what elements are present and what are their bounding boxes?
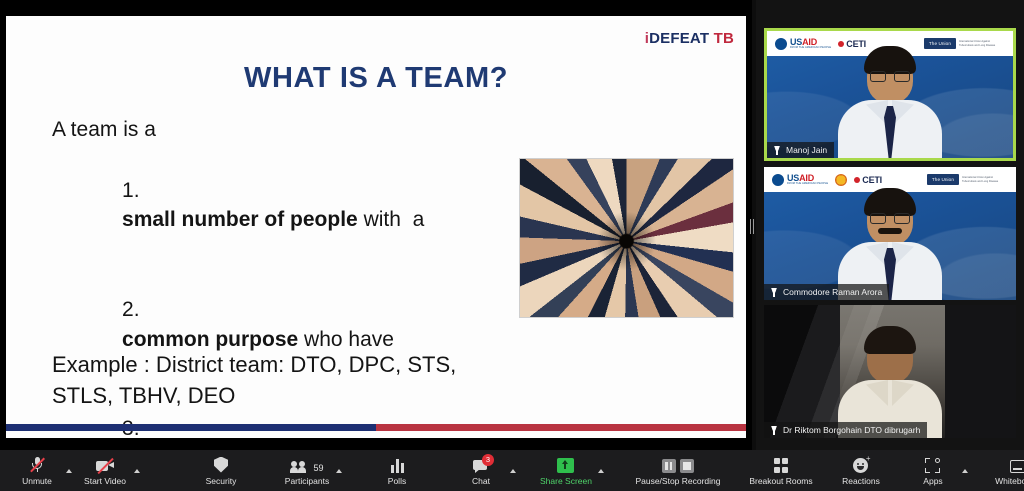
list-item-rest: who have (298, 328, 394, 351)
the-union-logo: The Union International Union Against Tu… (927, 174, 1008, 185)
reactions-label: Reactions (842, 476, 880, 486)
smiley-icon: + (853, 456, 868, 473)
participant-name-bar: Commodore Raman Arora (764, 284, 889, 300)
audio-options-chevron-up-icon[interactable] (66, 469, 72, 473)
participants-chevron-up-icon[interactable] (336, 469, 342, 473)
union-wordmark: The Union (924, 38, 956, 49)
idefeat-tb-logo: iDEFEAT TB (645, 30, 734, 47)
union-wordmark: The Union (927, 174, 959, 185)
union-tagline: International Union Against Tuberculosis… (959, 40, 1005, 46)
pin-icon (773, 146, 781, 155)
zoom-meeting-window: iDEFEAT TB WHAT IS A TEAM? A team is a 1… (0, 0, 1024, 491)
union-tagline: International Union Against Tuberculosis… (962, 176, 1008, 182)
reactions-button[interactable]: + Reactions (830, 450, 892, 491)
apps-icon (925, 456, 940, 473)
pin-icon (770, 426, 778, 435)
security-button[interactable]: Security (194, 450, 248, 491)
video-tile-dr-riktom-borgohain[interactable]: Dr Riktom Borgohain DTO dibrugarh (764, 305, 1016, 438)
breakout-label: Breakout Rooms (749, 476, 812, 486)
video-tile-manoj-jain[interactable]: USAID FROM THE AMERICAN PEOPLE CETI The … (764, 28, 1016, 161)
participant-name-bar: Dr Riktom Borgohain DTO dibrugarh (764, 422, 927, 438)
slide-title: WHAT IS A TEAM? (6, 62, 746, 95)
avatar-head (867, 193, 913, 245)
slide-lead-text: A team is a (52, 116, 482, 144)
bar-chart-icon (391, 456, 404, 473)
chat-label: Chat (472, 476, 490, 486)
usaid-tagline: FROM THE AMERICAN PEOPLE (790, 47, 831, 50)
avatar-hair (864, 46, 916, 74)
footer-bar-right (376, 424, 746, 431)
shield-icon (214, 456, 228, 473)
toolbar-center-group: Security 59 Participants Polls (194, 450, 1024, 491)
participant-name: Commodore Raman Arora (783, 287, 882, 297)
usaid-tagline: FROM THE AMERICAN PEOPLE (787, 183, 828, 186)
recording-label: Pause/Stop Recording (635, 476, 720, 486)
apps-chevron-up-icon[interactable] (962, 469, 968, 473)
ceti-dot-icon (838, 41, 844, 47)
the-union-logo: The Union International Union Against Tu… (924, 38, 1005, 49)
unmute-label: Unmute (22, 476, 52, 486)
ceti-wordmark: CETI (846, 39, 866, 49)
shared-screen-area[interactable]: iDEFEAT TB WHAT IS A TEAM? A team is a 1… (0, 0, 752, 450)
usaid-seal-icon (775, 38, 787, 50)
participant-name: Manoj Jain (786, 145, 827, 155)
camera-off-icon (96, 456, 114, 473)
microphone-muted-icon (31, 456, 44, 473)
avatar-body (838, 100, 942, 158)
list-item-rest: with a (358, 208, 425, 231)
avatar-moustache (878, 228, 902, 234)
pin-icon (770, 288, 778, 297)
video-options-chevron-up-icon[interactable] (134, 469, 140, 473)
ceti-logo: CETI (854, 175, 882, 185)
security-label: Security (206, 476, 237, 486)
share-screen-icon (557, 456, 574, 473)
share-screen-label: Share Screen (540, 476, 592, 486)
list-item: 1. small number of people with a (52, 146, 482, 265)
unmute-button[interactable]: Unmute (10, 450, 64, 491)
usaid-logo: USAID FROM THE AMERICAN PEOPLE (772, 174, 828, 186)
meeting-toolbar: Unmute Start Video Security 59 (0, 450, 1024, 491)
polls-button[interactable]: Polls (370, 450, 424, 491)
usaid-seal-icon (772, 174, 784, 186)
slide-example-text: Example : District team: DTO, DPC, STS, … (52, 349, 502, 411)
participants-label: Participants (285, 476, 329, 486)
slide-footer-bar (6, 424, 746, 431)
usaid-logo: USAID FROM THE AMERICAN PEOPLE (775, 38, 831, 50)
amrit-mahotsav-icon (835, 174, 847, 186)
avatar-glasses (870, 213, 910, 224)
video-tile-commodore-raman-arora[interactable]: USAID FROM THE AMERICAN PEOPLE CETI The … (764, 167, 1016, 300)
whiteboards-button[interactable]: Whiteboards (986, 450, 1024, 491)
participants-button[interactable]: 59 Participants (280, 450, 334, 491)
ceti-logo: CETI (838, 39, 866, 49)
share-screen-button[interactable]: Share Screen (536, 450, 596, 491)
avatar-head (867, 331, 913, 383)
list-item-number: 2. (122, 298, 140, 321)
participant-name-bar: Manoj Jain (767, 142, 834, 158)
share-screen-chevron-up-icon[interactable] (598, 469, 604, 473)
pause-recording-icon (662, 459, 676, 473)
pause-stop-icon (662, 456, 694, 473)
chat-bubble-icon: 3 (473, 456, 489, 473)
ceti-wordmark: CETI (862, 175, 882, 185)
list-item-bold: small number of people (122, 208, 358, 231)
presentation-slide: iDEFEAT TB WHAT IS A TEAM? A team is a 1… (6, 16, 746, 438)
whiteboards-label: Whiteboards (995, 476, 1024, 486)
avatar-head (867, 51, 913, 103)
polls-label: Polls (388, 476, 406, 486)
avatar-hair (864, 188, 916, 216)
list-item-bold: common purpose (122, 328, 298, 351)
people-icon: 59 (290, 456, 323, 473)
list-item-number: 1. (122, 179, 140, 202)
participant-avatar (838, 51, 942, 158)
chat-unread-badge: 3 (482, 454, 494, 466)
start-video-button[interactable]: Start Video (78, 450, 132, 491)
breakout-rooms-button[interactable]: Breakout Rooms (742, 450, 820, 491)
chat-chevron-up-icon[interactable] (510, 469, 516, 473)
apps-button[interactable]: Apps (906, 450, 960, 491)
footer-bar-left (6, 424, 376, 431)
panel-resize-handle[interactable] (749, 218, 754, 234)
avatar-hair (864, 326, 916, 354)
video-filmstrip: USAID FROM THE AMERICAN PEOPLE CETI The … (756, 0, 1024, 450)
start-video-label: Start Video (84, 476, 126, 486)
grid-icon (774, 456, 789, 473)
avatar-glasses (870, 71, 910, 82)
brand-suffix: TB (714, 30, 734, 47)
whiteboard-icon (1010, 456, 1024, 473)
toolbar-left-group: Unmute Start Video (0, 450, 146, 491)
ceti-dot-icon (854, 177, 860, 183)
apps-label: Apps (923, 476, 942, 486)
participants-count: 59 (313, 463, 323, 473)
participant-name: Dr Riktom Borgohain DTO dibrugarh (783, 425, 920, 435)
brand-middle: DEFEAT (649, 30, 709, 47)
avatar-tie (884, 106, 896, 158)
pause-stop-recording-button[interactable]: Pause/Stop Recording (630, 450, 726, 491)
hands-joined-circle-photo (519, 158, 734, 318)
chat-button[interactable]: 3 Chat (454, 450, 508, 491)
stop-recording-icon (680, 459, 694, 473)
